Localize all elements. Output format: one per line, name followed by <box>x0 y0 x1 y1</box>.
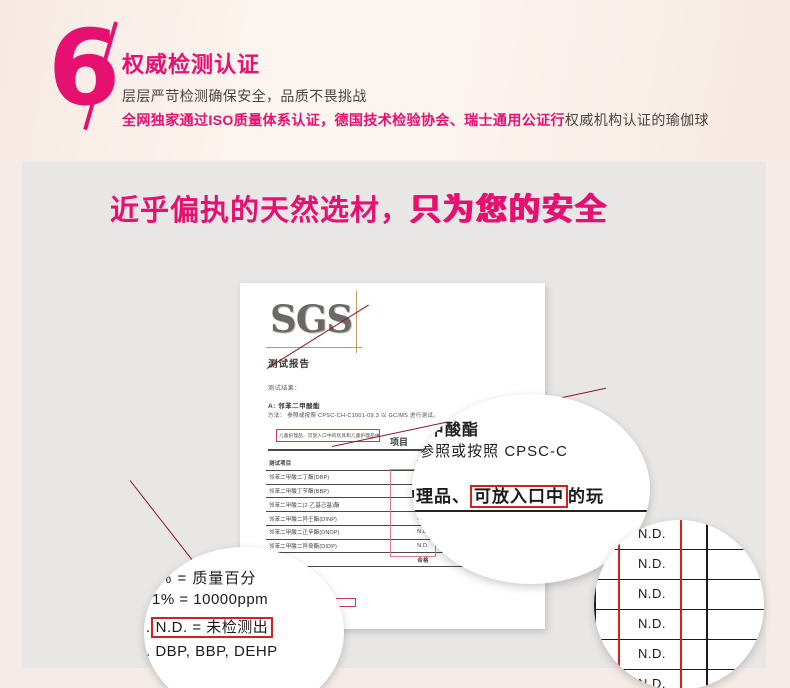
leader-line-left <box>129 480 198 567</box>
section-number: 6 <box>48 16 118 120</box>
nd-value: N.D. <box>622 646 682 661</box>
section-banner: 6 权威检测认证 层层严苛检测确保安全，品质不畏挑战 全网独家通过ISO质量体系… <box>0 0 790 160</box>
magnified-text-boxed: N.D. = 未检测出 <box>151 617 274 638</box>
magnified-text-line: % = 质量百分 <box>158 567 256 588</box>
banner-subtitle-2: 全网独家通过ISO质量体系认证，德国技术检验协会、瑞士通用公证行权威机构认证的瑜… <box>122 110 709 130</box>
magnifier-circle-right: N.D. N.D. N.D. N.D. N.D. N.D. <box>594 520 764 688</box>
table-cell-name: 邻苯二甲酸二丁酯(DBP) <box>266 470 390 484</box>
nd-value: N.D. <box>622 556 682 571</box>
magnified-text-line: 苯二甲酸酯 <box>412 416 479 440</box>
report-results-label: 测试结果： <box>268 383 301 392</box>
table-header-cell: 测试项目 <box>266 457 390 470</box>
magnified-text-boxed: 可放入口中 <box>470 485 568 508</box>
magnified-nd-column: N.D. N.D. N.D. N.D. N.D. N.D. <box>594 520 764 688</box>
table-cell-name: 邻苯二甲酸二正辛酯(DNOP) <box>266 525 390 539</box>
report-section-a: A: 邻苯二甲酸酯 <box>268 400 320 410</box>
table-cell-name: 邻苯二甲酸丁苄酯(BBP) <box>266 484 390 498</box>
magnified-text-line: ： 参照或按照 CPSC-C <box>412 440 568 461</box>
registration-mark-icon <box>356 291 357 353</box>
nd-value: N.D. <box>622 616 682 631</box>
magnified-text-pre: 护理品、 <box>412 487 470 506</box>
nd-value: N.D. <box>622 586 682 601</box>
headline-normal: 近乎偏执的天然选材， <box>110 195 410 227</box>
registration-mark-icon <box>266 347 362 348</box>
banner-subtitle-2-highlight: 全网独家通过ISO质量体系认证，德国技术检验协会、瑞士通用公证行 <box>122 112 565 128</box>
banner-subtitle-1: 层层严苛检测确保安全，品质不畏挑战 <box>122 86 367 106</box>
magnified-underline <box>412 510 650 512</box>
nd-value: N.D. <box>622 526 682 541</box>
headline-strong: 只为您的安全 <box>410 192 608 227</box>
banner-title: 权威检测认证 <box>122 47 260 79</box>
nd-value: N.D. <box>622 676 682 688</box>
magnified-text-line: 1% = 10000ppm <box>152 591 268 608</box>
table-cell-name: 邻苯二甲酸二异癸酯(DIDP) <box>266 539 390 553</box>
magnified-text-post: 的玩 <box>568 487 604 506</box>
sgs-logo: SGS <box>270 297 352 341</box>
page-headline: 近乎偏执的天然选材，只为您的安全 <box>110 184 608 229</box>
table-cell-name: 邻苯二甲酸二异壬酯(DINP) <box>266 512 390 526</box>
report-item-label: 项目 <box>390 435 408 448</box>
nd-highlight-border <box>618 520 620 688</box>
content-panel: 近乎偏执的天然选材，只为您的安全 SGS 测试报告 测试结果： A: 邻苯二甲酸… <box>22 162 766 668</box>
table-cell-name: 邻苯二甲酸二(2-乙基己基)酯 <box>266 498 390 512</box>
banner-subtitle-2-tail: 权威机构认证的瑜伽球 <box>565 112 709 128</box>
magnified-text-line: . DBP, BBP, DEHP <box>146 643 278 660</box>
magnified-text-line: 护理品、可放入口中的玩 <box>412 482 604 507</box>
nd-highlight-border <box>680 520 682 688</box>
magnified-text-line: .N.D. = 未检测出 <box>146 616 273 637</box>
magnified-text-pre: . <box>146 619 151 636</box>
